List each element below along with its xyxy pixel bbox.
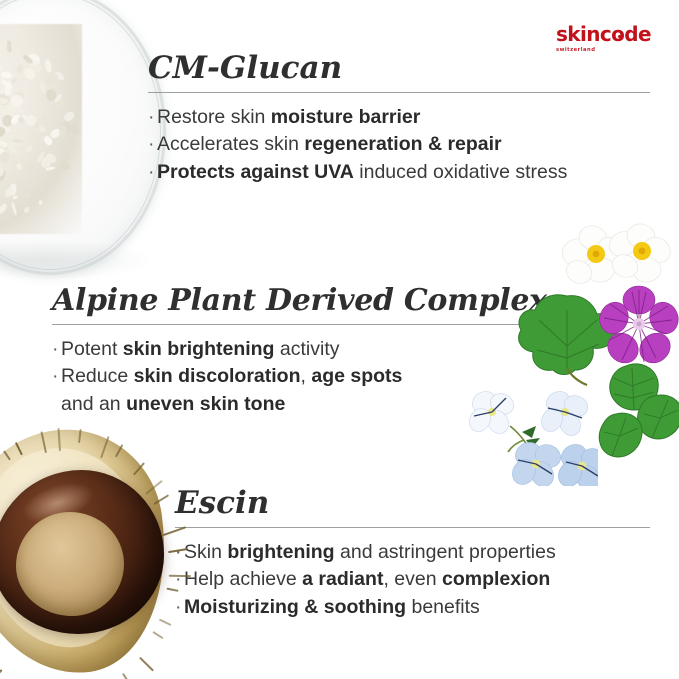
speedwell-bloom-2 (537, 387, 591, 439)
bullet-text: Restore skin moisture barrier (157, 104, 420, 132)
brand-name: skincode (556, 24, 651, 44)
heading-rule (52, 324, 542, 325)
bullet-list: · Restore skin moisture barrier · Accele… (148, 104, 650, 187)
brand-tagline: switzerland (556, 47, 656, 53)
bullet-text: Skin brightening and astringent properti… (184, 539, 556, 567)
horse-chestnut-image (0, 424, 190, 679)
bullet-text: Reduce skin discoloration, age spots (61, 363, 402, 391)
bullet-glyph: · (52, 336, 61, 364)
bullet-list: · Skin brightening and astringent proper… (175, 539, 650, 622)
section-cm-glucan: CM-Glucan · Restore skin moisture barrie… (148, 52, 650, 187)
list-item: · Potent skin brightening activity (52, 336, 542, 364)
bullet-text: and an uneven skin tone (61, 391, 285, 419)
heading-rule (175, 527, 650, 528)
brand-accent-dot (618, 35, 621, 38)
bullet-glyph: · (52, 363, 61, 391)
section-escin: Escin · Skin brightening and astringent … (175, 487, 650, 622)
bullet-text: Potent skin brightening activity (61, 336, 339, 364)
heading-rule (148, 92, 650, 93)
speedwell-bloom-4 (554, 440, 598, 486)
speedwell-flowers-icon (466, 382, 598, 486)
list-item: · Skin brightening and astringent proper… (175, 539, 650, 567)
section-heading: Escin (175, 487, 650, 520)
bullet-text: Protects against UVA induced oxidative s… (157, 159, 567, 187)
list-item: · Restore skin moisture barrier (148, 104, 650, 132)
section-heading: CM-Glucan (148, 52, 650, 85)
petri-dish-image (0, 0, 166, 275)
bullet-glyph: · (148, 131, 157, 159)
list-item: · Protects against UVA induced oxidative… (148, 159, 650, 187)
list-item: · Accelerates skin regeneration & repair (148, 131, 650, 159)
bullet-text: Accelerates skin regeneration & repair (157, 131, 502, 159)
dish-shadow (0, 240, 150, 280)
speedwell-bloom-1 (466, 387, 517, 437)
section-heading: Alpine Plant Derived Complex (52, 285, 542, 317)
chestnut-hilum (16, 512, 124, 616)
bullet-glyph: · (148, 159, 157, 187)
chestnut-nut (0, 470, 164, 634)
bullet-text: Help achieve a radiant, even complexion (184, 566, 550, 594)
infographic-poster: CM-Glucan · Restore skin moisture barrie… (0, 0, 679, 679)
brand-logo[interactable]: skincode switzerland (556, 24, 656, 53)
mint-leaves-icon (596, 352, 679, 470)
bullet-glyph: · (148, 104, 157, 132)
list-item: · Help achieve a radiant, even complexio… (175, 566, 650, 594)
bullet-text: Moisturizing & soothing benefits (184, 594, 480, 622)
speedwell-bloom-3 (508, 438, 564, 486)
list-item: · Moisturizing & soothing benefits (175, 594, 650, 622)
